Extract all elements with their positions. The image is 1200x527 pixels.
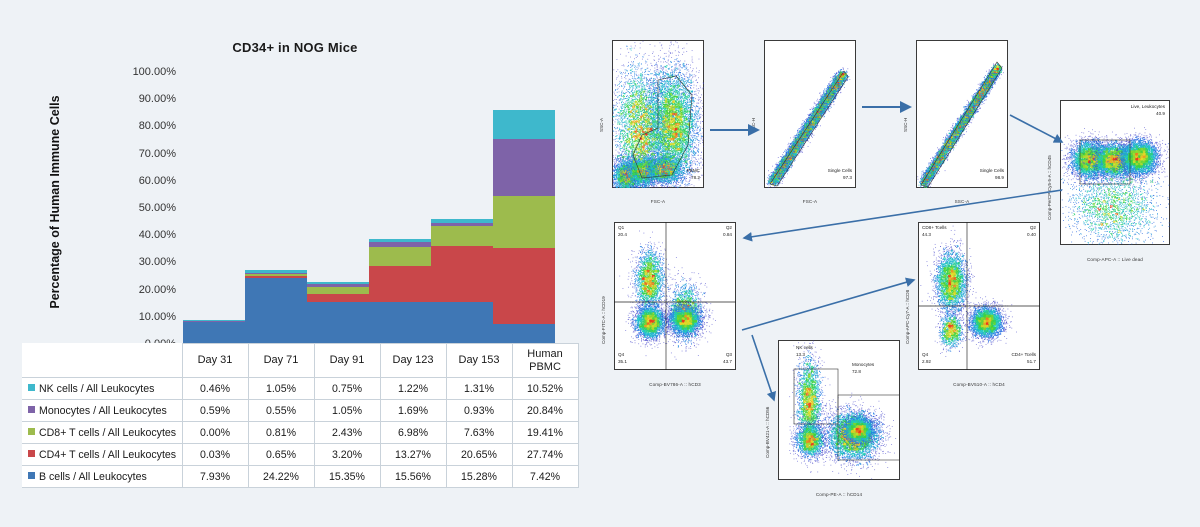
x-axis-label: Comp-PE-A :: hCD14 [778,492,900,497]
legend-row-label: NK cells / All Leukocytes [22,378,182,400]
bar-column[interactable] [307,282,369,344]
legend-row-label: CD8+ T cells / All Leukocytes [22,422,182,444]
bar-segment[interactable] [307,287,369,294]
plot-area: 0.00%10.00%20.00%30.00%40.00%50.00%60.00… [183,72,555,344]
gate-name: Monocytes [852,362,874,369]
y-axis-tick: 10.00% [111,311,183,323]
gate-label-nk: NK cells 13.3 [796,345,813,359]
table-cell: 15.35% [314,466,380,488]
quadrant-name: Q3 [723,352,732,359]
table-row: NK cells / All Leukocytes0.46%1.05%0.75%… [22,378,578,400]
table-row: CD4+ T cells / All Leukocytes0.03%0.65%3… [22,444,578,466]
gate-label: Single Cells 97.3 [828,168,852,182]
gate-name: PBMC [687,168,700,175]
y-axis-tick: 40.00% [111,229,183,241]
flow-plot-cd19-cd3[interactable]: Q1 20.4 Q2 0.84 Q3 43.7 Q4 35.1 Comp-BV7… [614,222,736,370]
y-axis-label: FSC-H [751,118,756,132]
flow-plot-singlecells-fsc[interactable]: Single Cells 97.3 FSC-A FSC-H [764,40,856,188]
y-axis-label: SSC-H [903,118,908,132]
bar-segment[interactable] [431,246,493,302]
table-cell: 27.74% [512,444,578,466]
scatter-canvas [612,40,704,188]
table-column-header: Day 153 [446,344,512,378]
x-axis-label: Comp-BV786-A :: hCD3 [614,382,736,387]
bar-column[interactable] [183,320,245,344]
legend-color-swatch [28,406,35,413]
flow-plot-live-leukocytes[interactable]: Live, Leukocytes 40.9 Comp-APC-A :: Live… [1060,100,1170,245]
quadrant-name: CD4+ Tcells [1011,352,1036,359]
table-cell: 0.93% [446,400,512,422]
legend-color-swatch [28,450,35,457]
table-column-header: Day 91 [314,344,380,378]
table-column-header: Human PBMC [512,344,578,378]
y-axis-tick: 30.00% [111,256,183,268]
bar-segment[interactable] [369,302,431,344]
bar-segment[interactable] [369,266,431,302]
bar-segment[interactable] [493,139,555,196]
quadrant-value: 44.3 [922,232,947,239]
legend-row-label: B cells / All Leukocytes [22,466,182,488]
quadrant-value: 20.4 [618,232,627,239]
scatter-canvas [764,40,856,188]
table-cell: 1.05% [314,400,380,422]
legend-color-swatch [28,472,35,479]
gate-name: Live, Leukocytes [1131,104,1165,111]
bar-segment[interactable] [307,302,369,344]
y-axis-label: Comp-APC-Cy7-A :: hCD8 [905,290,910,344]
quadrant-label-cd8: CD8+ Tcells 44.3 [922,225,947,239]
quadrant-name: Q2 [1027,225,1036,232]
bar-segment[interactable] [493,324,555,344]
x-axis-label: FSC-A [612,199,704,204]
table-cell: 6.98% [380,422,446,444]
table-cell: 0.59% [182,400,248,422]
data-table: Day 31Day 71Day 91Day 123Day 153Human PB… [22,343,579,488]
y-axis-label: Comp-FITC-A :: hCD19 [601,296,606,344]
table-cell: 0.46% [182,378,248,400]
table-body: NK cells / All Leukocytes0.46%1.05%0.75%… [22,378,578,488]
table-cell: 1.22% [380,378,446,400]
bar-segment[interactable] [493,110,555,139]
scatter-canvas [614,222,736,370]
table-cell: 0.81% [248,422,314,444]
y-axis-tick: 50.00% [111,202,183,214]
y-axis-label: Comp-BV421-A :: hCD56 [765,407,770,458]
table-column-header: Day 123 [380,344,446,378]
quadrant-value: 2.92 [922,359,931,366]
chart-title: CD34+ in NOG Mice [130,40,460,55]
table-corner-cell [22,344,182,378]
quadrant-name: Q2 [723,225,732,232]
table-cell: 0.55% [248,400,314,422]
table-cell: 7.42% [512,466,578,488]
bar-segment[interactable] [493,248,555,323]
table-cell: 1.69% [380,400,446,422]
table-cell: 10.52% [512,378,578,400]
gate-label: PBMC 78.2 [687,168,700,182]
flow-plot-pbmc[interactable]: PBMC 78.2 FSC-A SSC-A [612,40,704,188]
bar-segment[interactable] [307,294,369,303]
table-cell: 24.22% [248,466,314,488]
quadrant-name: CD8+ Tcells [922,225,947,232]
table-cell: 7.63% [446,422,512,444]
table-cell: 7.93% [182,466,248,488]
bar-column[interactable] [431,219,493,344]
x-axis-label: Comp-APC-A :: Live dead [1060,257,1170,262]
gate-name: Single Cells [980,168,1004,175]
table-cell: 20.84% [512,400,578,422]
quadrant-value: 51.7 [1011,359,1036,366]
chart-panel: CD34+ in NOG Mice Percentage of Human Im… [0,0,592,527]
table-cell: 3.20% [314,444,380,466]
table-cell: 15.28% [446,466,512,488]
scatter-canvas [778,340,900,480]
quadrant-name: Q4 [618,352,627,359]
arrow-cd19-to-cd8 [742,280,914,330]
gate-label: Single Cells 98.9 [980,168,1004,182]
scatter-canvas [918,222,1040,370]
table-row: CD8+ T cells / All Leukocytes0.00%0.81%2… [22,422,578,444]
table-cell: 1.05% [248,378,314,400]
table-row: Monocytes / All Leukocytes0.59%0.55%1.05… [22,400,578,422]
gate-label: Live, Leukocytes 40.9 [1131,104,1165,118]
y-axis-tick: 80.00% [111,120,183,132]
y-axis-tick: 100.00% [111,66,183,78]
legend-color-swatch [28,428,35,435]
table-cell: 20.65% [446,444,512,466]
scatter-canvas [1060,100,1170,245]
bar-segment[interactable] [245,278,307,344]
table-cell: 15.56% [380,466,446,488]
gate-value: 40.9 [1131,111,1165,118]
y-axis-tick: 60.00% [111,175,183,187]
gate-label-monocytes: Monocytes 72.8 [852,362,874,376]
table-cell: 0.65% [248,444,314,466]
gate-value: 98.9 [980,175,1004,182]
quadrant-name: Q4 [922,352,931,359]
table-column-header: Day 31 [182,344,248,378]
table-row: B cells / All Leukocytes7.93%24.22%15.35… [22,466,578,488]
y-axis-tick: 90.00% [111,93,183,105]
bar-column[interactable] [245,270,307,344]
gate-value: 13.3 [796,352,813,359]
flow-plot-cd8-cd4[interactable]: CD8+ Tcells 44.3 Q2 0.40 CD4+ Tcells 51.… [918,222,1040,370]
quadrant-label-q3: Q3 43.7 [723,352,732,366]
quadrant-value: 0.40 [1027,232,1036,239]
bar-column[interactable] [369,239,431,344]
gate-value: 97.3 [828,175,852,182]
x-axis-label: FSC-A [764,199,856,204]
gate-value: 78.2 [687,175,700,182]
arrow-cd19-to-nk [752,335,774,400]
scatter-canvas [916,40,1008,188]
x-axis-label: Comp-BV510-A :: hCD4 [918,382,1040,387]
quadrant-label-q2: Q2 0.84 [723,225,732,239]
x-axis-label: SSC-A [916,199,1008,204]
quadrant-label-q1: Q1 20.4 [618,225,627,239]
legend-row-label: CD4+ T cells / All Leukocytes [22,444,182,466]
quadrant-name: Q1 [618,225,627,232]
bar-column[interactable] [493,110,555,344]
quadrant-label-q4: Q4 2.92 [922,352,931,366]
bar-segment[interactable] [431,226,493,247]
table-cell: 1.31% [446,378,512,400]
gate-name: NK cells [796,345,813,352]
table-cell: 13.27% [380,444,446,466]
y-axis-label: Comp-PerCP-Cy5-5-A :: hCD45 [1047,155,1052,220]
bar-segment[interactable] [183,322,245,344]
arrow-ssc-to-live [1010,115,1062,142]
bar-segment[interactable] [369,247,431,266]
flow-plot-nk-monocytes[interactable]: NK cells 13.3 Monocytes 72.8 Comp-PE-A :… [778,340,900,480]
quadrant-value: 43.7 [723,359,732,366]
flow-plot-singlecells-ssc[interactable]: Single Cells 98.9 SSC-A SSC-H [916,40,1008,188]
table-header-row: Day 31Day 71Day 91Day 123Day 153Human PB… [22,344,578,378]
quadrant-value: 35.1 [618,359,627,366]
bar-segment[interactable] [493,196,555,249]
legend-row-label: Monocytes / All Leukocytes [22,400,182,422]
gate-value: 72.8 [852,369,874,376]
table-cell: 2.43% [314,422,380,444]
y-axis-tick: 70.00% [111,148,183,160]
table-column-header: Day 71 [248,344,314,378]
gate-name: Single Cells [828,168,852,175]
quadrant-value: 0.84 [723,232,732,239]
quadrant-label-q4: Q4 35.1 [618,352,627,366]
quadrant-label-cd4: CD4+ Tcells 51.7 [1011,352,1036,366]
table-cell: 0.00% [182,422,248,444]
table-cell: 19.41% [512,422,578,444]
bar-segment[interactable] [431,302,493,344]
legend-color-swatch [28,384,35,391]
flow-cytometry-panel: PBMC 78.2 FSC-A SSC-A Single Cells 97.3 … [592,0,1200,527]
table-cell: 0.75% [314,378,380,400]
table-cell: 0.03% [182,444,248,466]
y-axis-label: SSC-A [599,118,604,132]
quadrant-label-q2: Q2 0.40 [1027,225,1036,239]
y-axis-tick: 20.00% [111,284,183,296]
y-axis-title: Percentage of Human Immune Cells [48,52,62,352]
